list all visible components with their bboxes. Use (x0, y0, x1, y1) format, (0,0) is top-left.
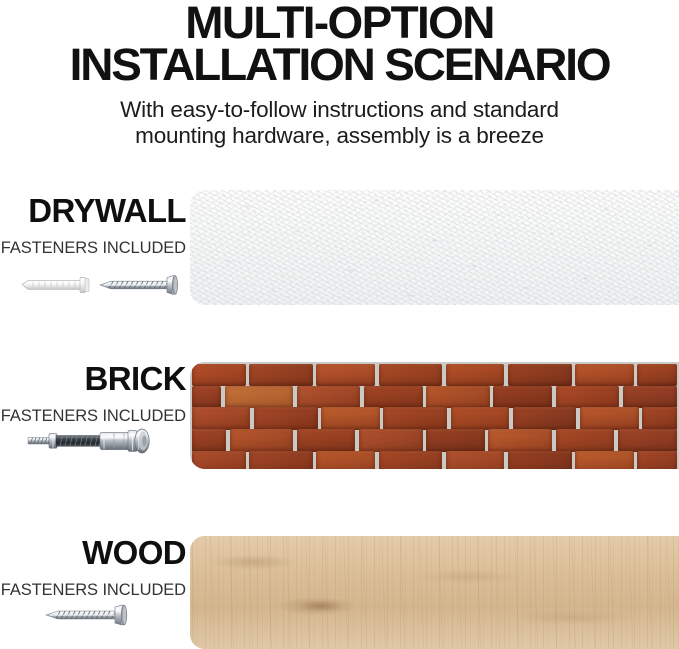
material-name-brick: BRICK (0, 362, 186, 395)
brick-unit (637, 451, 677, 469)
brick-unit (379, 451, 443, 469)
wood-texture (190, 536, 679, 649)
brick-course (190, 362, 679, 385)
section-wood: WOOD FASTENERS INCLUDED (0, 536, 679, 649)
wall-anchor-icon (16, 272, 98, 298)
wood-hardware-row (0, 598, 186, 632)
material-name-wood: WOOD (0, 536, 186, 569)
brick-hardware-row (0, 424, 186, 458)
brick-unit (575, 451, 634, 469)
brick-course (190, 450, 679, 469)
brick-course (190, 406, 679, 429)
page-title-line-2: INSTALLATION SCENARIO (1, 44, 677, 86)
drywall-hardware-row (0, 268, 186, 302)
brick-unit (508, 451, 572, 469)
brick-panel (190, 362, 679, 469)
drywall-labels: DRYWALL FASTENERS INCLUDED (0, 194, 186, 257)
page-subtitle-line-1: With easy-to-follow instructions and sta… (14, 97, 665, 124)
wood-labels: WOOD FASTENERS INCLUDED (0, 536, 186, 599)
drywall-texture (190, 190, 679, 305)
drywall-panel (190, 190, 679, 305)
page-title: MULTI-OPTION INSTALLATION SCENARIO (0, 2, 679, 86)
section-brick: BRICK FASTENERS INCLUDED (0, 362, 679, 472)
screw-icon (98, 272, 186, 298)
brick-course (190, 384, 679, 407)
material-name-drywall: DRYWALL (0, 194, 186, 227)
header: MULTI-OPTION INSTALLATION SCENARIO With … (0, 0, 679, 150)
wood-screw-icon (44, 601, 136, 629)
page-title-line-1: MULTI-OPTION (1, 2, 677, 44)
brick-course (190, 428, 679, 451)
brick-unit (316, 451, 375, 469)
brick-unit (192, 451, 246, 469)
fasteners-included-brick: FASTENERS INCLUDED (0, 408, 186, 425)
fasteners-included-drywall: FASTENERS INCLUDED (0, 240, 186, 257)
fasteners-included-wood: FASTENERS INCLUDED (0, 582, 186, 599)
brick-unit (446, 451, 505, 469)
wood-panel (190, 536, 679, 649)
brick-labels: BRICK FASTENERS INCLUDED (0, 362, 186, 425)
page-subtitle-line-2: mounting hardware, assembly is a breeze (14, 123, 665, 150)
section-drywall: DRYWALL FASTENERS INCLUDED (0, 190, 679, 308)
brick-unit (249, 451, 313, 469)
sleeve-anchor-icon (26, 424, 160, 458)
brick-texture (190, 362, 679, 469)
page-subtitle: With easy-to-follow instructions and sta… (0, 97, 679, 150)
